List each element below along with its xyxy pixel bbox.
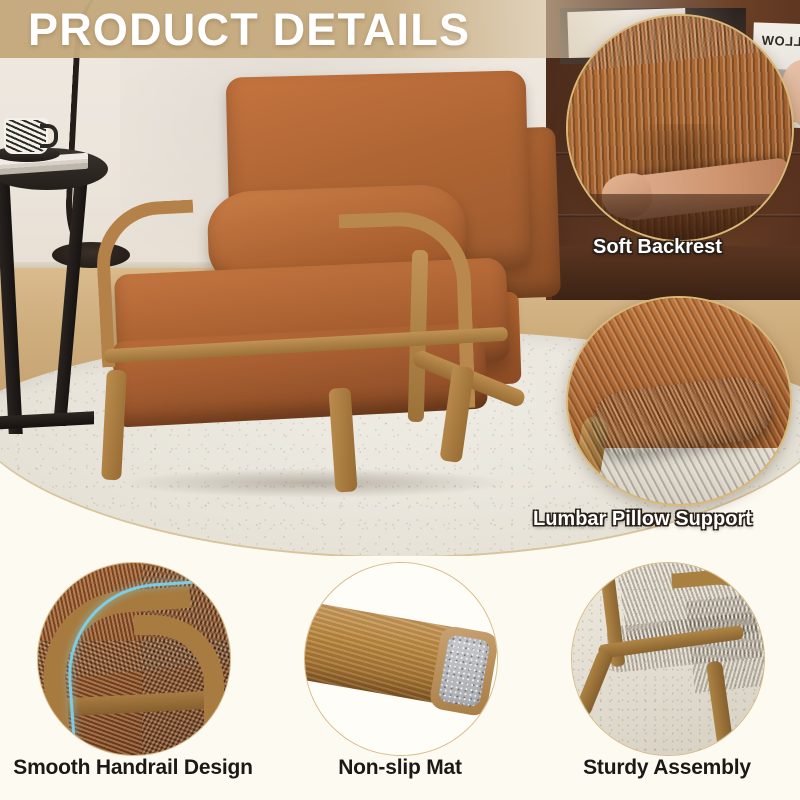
feature-label-smooth-handrail: Smooth Handrail Design <box>0 756 266 780</box>
callout-soft-backrest <box>566 14 794 242</box>
page-title: PRODUCT DETAILS <box>28 4 470 56</box>
chair-shadow <box>120 468 510 498</box>
feature-image-smooth-handrail <box>37 562 231 756</box>
feature-smooth-handrail: Smooth Handrail Design <box>0 556 266 800</box>
callout-lumbar-pillow <box>566 296 792 506</box>
feature-label-sturdy-assembly: Sturdy Assembly <box>534 756 800 780</box>
callout-label-lumbar-pillow: Lumbar Pillow Support <box>533 508 752 531</box>
mug-handle <box>40 124 58 148</box>
chair-armrest-left <box>94 200 201 368</box>
chair-leg-front-left <box>101 370 127 481</box>
corduroy-texture <box>568 298 790 504</box>
feature-image-non-slip-mat <box>304 562 498 756</box>
feature-row: Smooth Handrail Design Non-slip Mat <box>0 556 800 800</box>
feature-label-non-slip-mat: Non-slip Mat <box>267 756 533 780</box>
feature-image-sturdy-assembly <box>571 562 765 756</box>
lower-shadow <box>568 194 792 240</box>
callout-label-soft-backrest: Soft Backrest <box>593 236 722 259</box>
product-details-page: FOLLOW <box>0 0 800 800</box>
feature-non-slip-mat: Non-slip Mat <box>267 556 533 800</box>
feature-sturdy-assembly: Sturdy Assembly <box>534 556 800 800</box>
armchair <box>110 70 560 490</box>
